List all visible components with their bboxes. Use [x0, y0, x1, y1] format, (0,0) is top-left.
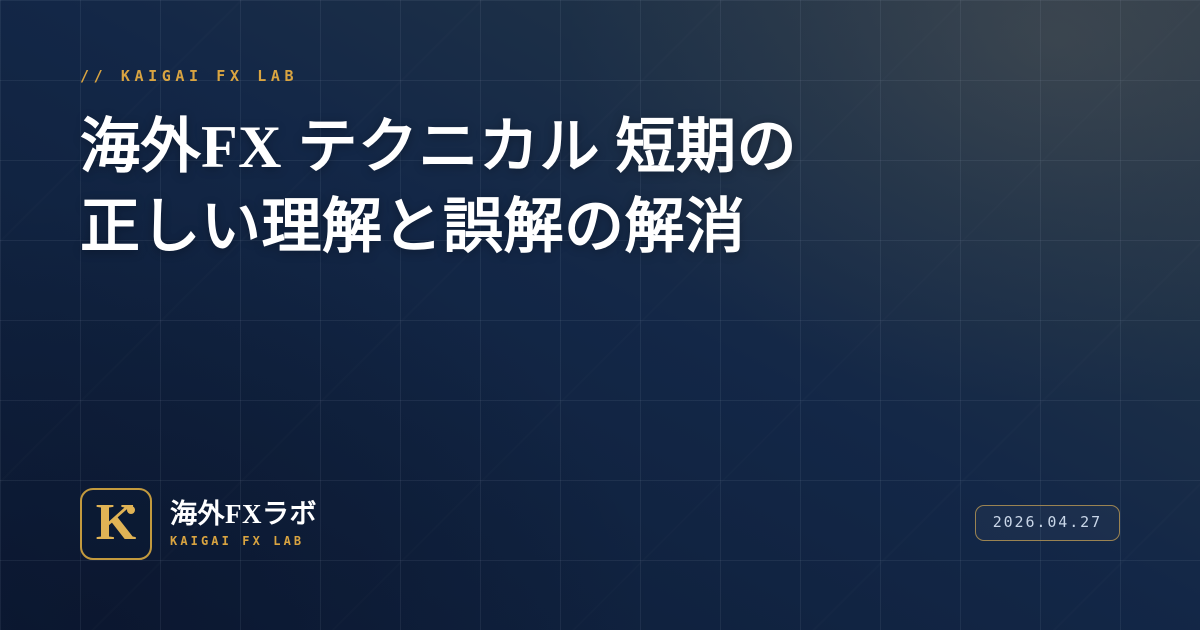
gold-dot-icon	[127, 506, 135, 514]
brand-text-block: 海外FXラボ KAIGAI FX LAB	[170, 500, 317, 548]
card-content: // KAIGAI FX LAB 海外FX テクニカル 短期の 正しい理解と誤解…	[0, 0, 1200, 630]
brand-name: 海外FXラボ	[170, 500, 317, 530]
kicker-label: // KAIGAI FX LAB	[80, 67, 298, 85]
page-title: 海外FX テクニカル 短期の 正しい理解と誤解の解消	[80, 108, 1100, 268]
logo-mark-icon: K	[80, 488, 152, 560]
brand-subtitle: KAIGAI FX LAB	[170, 534, 317, 548]
logo-monogram-letter: K	[96, 497, 136, 549]
page-title-line-2: 正しい理解と誤解の解消	[80, 188, 1100, 268]
og-card: // KAIGAI FX LAB 海外FX テクニカル 短期の 正しい理解と誤解…	[0, 0, 1200, 630]
page-title-line-1: 海外FX テクニカル 短期の	[80, 108, 1100, 188]
date-badge: 2026.04.27	[975, 505, 1120, 541]
brand-lockup: K 海外FXラボ KAIGAI FX LAB	[80, 488, 317, 560]
